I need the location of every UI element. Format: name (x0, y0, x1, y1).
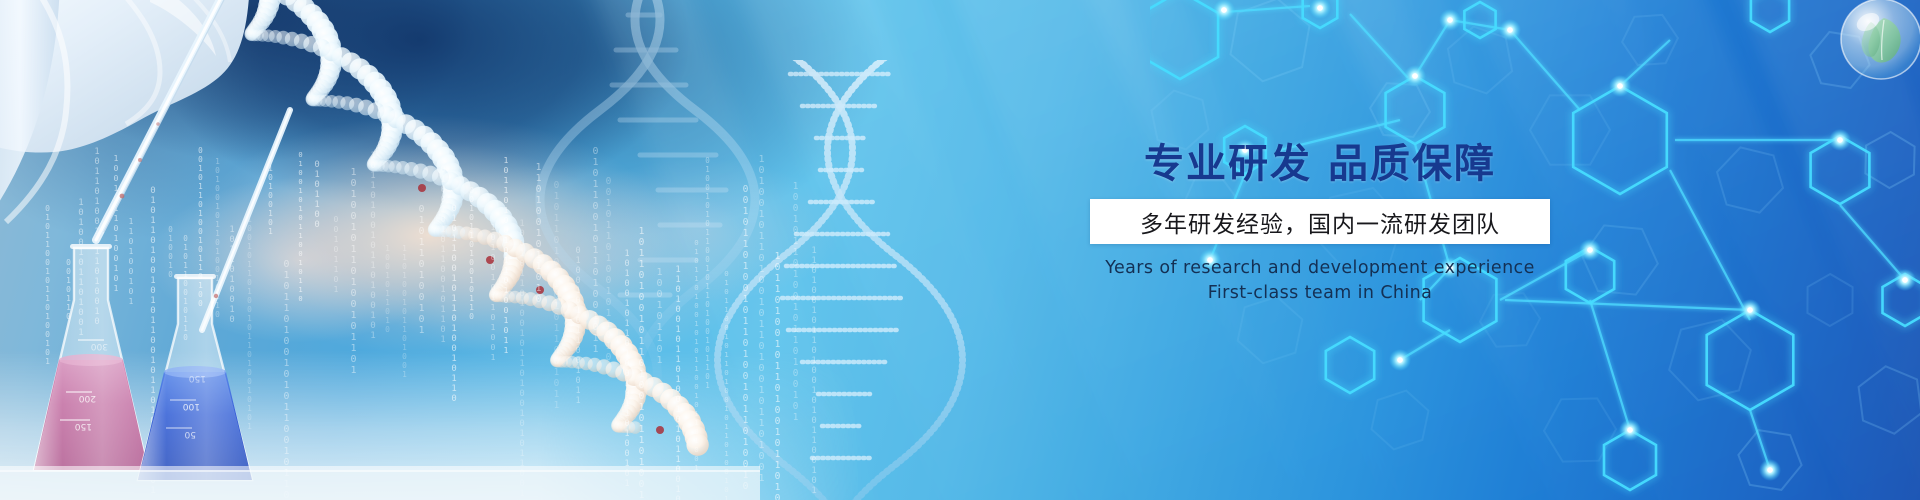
molecular-link (1510, 30, 1580, 110)
molecular-node-core (1587, 247, 1593, 253)
molecular-node-core (1317, 5, 1323, 11)
molecular-link (1350, 14, 1408, 78)
laboratory-foreground: 200 150 300 100 50 150 (0, 0, 760, 500)
molecular-link (1224, 6, 1310, 12)
flask-pink-shape: 200 150 300 (34, 244, 148, 470)
banner-text-block: 专业研发 品质保障 多年研发经验，国内一流研发团队 Years of resea… (1090, 140, 1550, 306)
molecular-node-core (1397, 357, 1403, 363)
molecular-link (1590, 300, 1630, 430)
banner-english-line-1: Years of research and development experi… (1090, 256, 1550, 281)
hexagon-shape (1150, 0, 1218, 79)
banner-subtitle: 多年研发经验，国内一流研发团队 (1140, 205, 1500, 239)
hexagon-shape (1807, 274, 1852, 326)
hexagon-shape (1231, 0, 1310, 81)
molecular-node-core (1767, 467, 1773, 473)
hero-banner: 0101100101101001010010110101001011010011… (0, 0, 1920, 500)
hexagon-shape (1326, 337, 1374, 393)
molecular-node-core (1447, 17, 1453, 23)
banner-subtitle-box: 多年研发经验，国内一流研发团队 (1090, 199, 1550, 244)
hexagon-shape (1717, 147, 1783, 212)
svg-text:200: 200 (79, 393, 96, 403)
svg-text:300: 300 (91, 341, 108, 351)
molecular-node-core (1507, 27, 1513, 33)
molecular-node-core (1837, 137, 1843, 143)
svg-text:150: 150 (75, 421, 92, 431)
pipette-small-shape (202, 110, 290, 330)
banner-headline: 专业研发 品质保障 (1090, 140, 1550, 188)
leaf-bubble-icon (1838, 0, 1920, 82)
banner-english-line-2: First-class team in China (1090, 281, 1550, 306)
molecular-node-core (1902, 277, 1908, 283)
molecular-node-core (1617, 83, 1623, 89)
hexagon-shape (1238, 297, 1303, 364)
molecular-link (1670, 170, 1750, 320)
hexagon-shape (1751, 0, 1789, 32)
flask-blue-shape: 100 50 150 (138, 274, 252, 480)
svg-text:50: 50 (184, 429, 196, 439)
molecular-link (1840, 205, 1905, 280)
hexagon-shape (1370, 83, 1430, 137)
molecular-node-core (1747, 307, 1753, 313)
hexagon-shape (1573, 86, 1667, 194)
hexagon-shape (1372, 391, 1429, 450)
molecular-node-core (1627, 427, 1633, 433)
molecular-node-core (1412, 73, 1418, 79)
banner-english-text: Years of research and development experi… (1090, 256, 1550, 306)
molecular-node-core (1221, 7, 1227, 13)
hexagon-shape (1859, 366, 1920, 433)
svg-text:150: 150 (189, 373, 206, 383)
hexagon-shape (1865, 132, 1914, 188)
svg-text:100: 100 (183, 401, 200, 411)
hexagon-shape (1464, 2, 1495, 38)
